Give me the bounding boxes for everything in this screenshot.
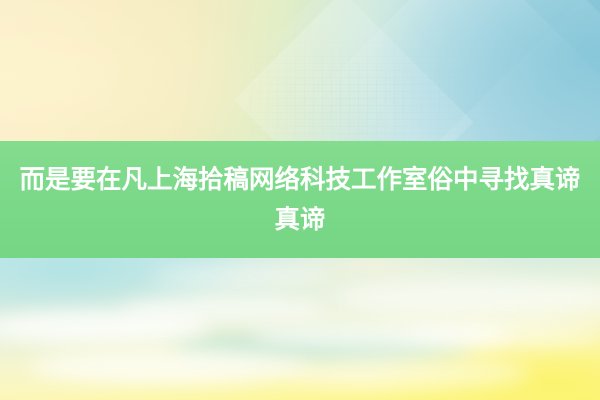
cloud-shape <box>120 296 330 322</box>
cloud-shape <box>290 358 530 388</box>
diagonal-facet-shape <box>191 0 474 141</box>
cloud-shape <box>0 310 210 344</box>
cloud-shape <box>150 266 330 286</box>
banner-headline-line-1: 而是要在凡上海拾稿网络科技工作室俗中寻找真谛 <box>0 160 600 200</box>
cloud-shape <box>330 278 600 318</box>
cloud-shadow <box>170 334 470 360</box>
diagonal-facet-shape <box>234 0 600 141</box>
diagonal-facet-shape <box>304 0 600 141</box>
background-texture-overlay <box>250 0 600 141</box>
diagonal-facet-shape <box>420 0 600 141</box>
top-gradient-background <box>0 0 600 141</box>
decorative-banner-image: 而是要在凡上海拾稿网络科技工作室俗中寻找真谛 真谛 <box>0 0 600 400</box>
bottom-sky-background <box>0 258 600 400</box>
green-text-band: 而是要在凡上海拾稿网络科技工作室俗中寻找真谛 真谛 <box>0 141 600 258</box>
banner-headline-line-2: 真谛 <box>0 200 600 240</box>
